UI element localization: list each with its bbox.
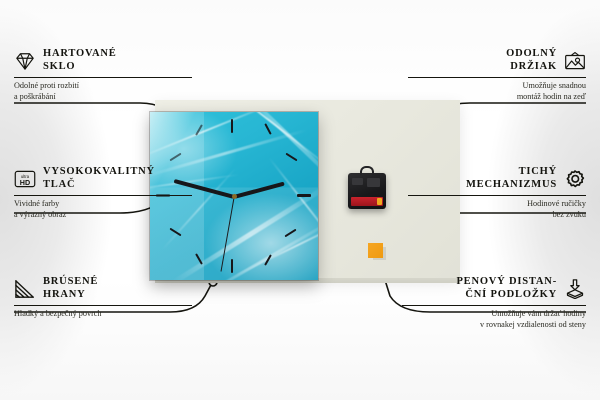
foam-spacer-icon	[564, 279, 586, 299]
hour-marker	[297, 194, 311, 197]
diamond-icon	[14, 51, 36, 71]
feature-title-line: DRŽIAK	[506, 61, 557, 74]
feature-title-line: MECHANIZMUS	[466, 179, 557, 192]
clock-hands-hub	[232, 194, 237, 199]
feature-title-line: BRÚSENÉ	[43, 276, 98, 289]
feature-beveled-edges: BRÚSENÉ HRANY Hladký a bezpečný povrch	[14, 276, 192, 320]
feature-high-quality-print: ultra HD VYSOKOKVALITNÝ TLAČ Vividné far…	[14, 166, 192, 220]
feature-head: ODOLNÝ DRŽIAK	[408, 48, 586, 73]
feature-head: TICHÝ MECHANIZMUS	[408, 166, 586, 191]
hour-marker	[231, 259, 233, 273]
feature-subtitle-line: Hodinové ručičky	[408, 199, 586, 210]
divider	[14, 195, 192, 196]
feature-subtitle-line: montáž hodin na zeď	[408, 92, 586, 103]
feature-subtitle-line: v rovnakej vzdialenosti od steny	[402, 320, 586, 331]
feature-hardened-glass: HARTOVANÉ SKLO Odolné proti rozbití a po…	[14, 48, 192, 102]
feature-title-line: HRANY	[43, 289, 98, 302]
clock-mechanism	[348, 173, 386, 209]
feature-subtitle-line: Vividné farby	[14, 199, 192, 210]
feature-head: BRÚSENÉ HRANY	[14, 276, 192, 301]
feature-title-line: VYSOKOKVALITNÝ	[43, 166, 155, 179]
feature-head: HARTOVANÉ SKLO	[14, 48, 192, 73]
feature-subtitle-line: Odolné proti rozbití	[14, 81, 192, 92]
mechanism-detail	[367, 178, 380, 187]
beveled-edge-icon	[14, 279, 36, 299]
divider	[402, 305, 586, 306]
feature-title-line: PENOVÝ DISTAN-	[456, 276, 557, 289]
feature-foam-spacers: PENOVÝ DISTAN- ČNÍ PODLOŽKY Umožňuje vám…	[402, 276, 586, 330]
battery	[351, 197, 383, 206]
hour-marker	[231, 119, 233, 133]
feature-title-line: SKLO	[43, 61, 117, 74]
ultra-hd-badge-icon: ultra HD	[14, 169, 36, 189]
mechanism-hanger-icon	[360, 166, 374, 175]
svg-text:HD: HD	[20, 177, 30, 186]
feature-title-line: ODOLNÝ	[506, 48, 557, 61]
divider	[14, 305, 192, 306]
feature-subtitle-line: bez zvuku	[408, 210, 586, 221]
feature-subtitle-line: Umožňuje vám držať hodiny	[402, 309, 586, 320]
feature-silent-mechanism: TICHÝ MECHANIZMUS Hodinové ručičky bez z…	[408, 166, 586, 220]
feature-title-line: ČNÍ PODLOŽKY	[456, 289, 557, 302]
picture-hanger-icon	[564, 51, 586, 71]
gear-icon	[564, 169, 586, 189]
mechanism-detail	[352, 178, 363, 185]
feature-subtitle-line: a poškrábání	[14, 92, 192, 103]
feature-title-line: HARTOVANÉ	[43, 48, 117, 61]
feature-head: PENOVÝ DISTAN- ČNÍ PODLOŽKY	[402, 276, 586, 301]
feature-title-line: TLAČ	[43, 179, 155, 192]
feature-subtitle-line: Umožňuje snadnou	[408, 81, 586, 92]
divider	[14, 77, 192, 78]
feature-subtitle-line: a výrazný obraz	[14, 210, 192, 221]
divider	[408, 195, 586, 196]
feature-durable-hanger: ODOLNÝ DRŽIAK Umožňuje snadnou montáž ho…	[408, 48, 586, 102]
feature-title-line: TICHÝ	[466, 166, 557, 179]
divider	[408, 77, 586, 78]
foam-spacer-pad	[368, 243, 383, 258]
feature-head: ultra HD VYSOKOKVALITNÝ TLAČ	[14, 166, 192, 191]
feature-subtitle-line: Hladký a bezpečný povrch	[14, 309, 192, 320]
